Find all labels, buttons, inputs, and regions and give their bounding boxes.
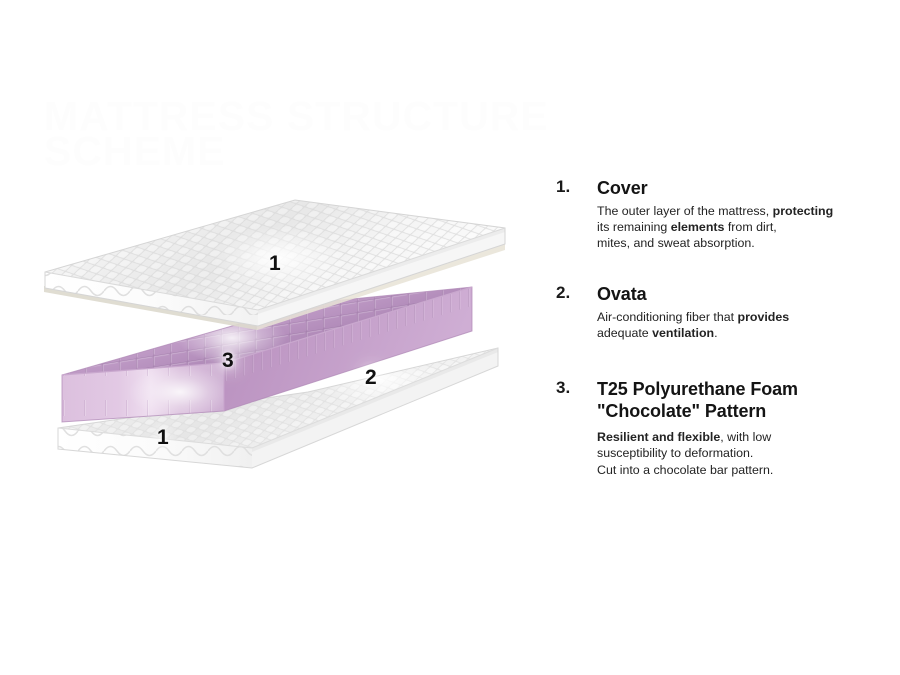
legend-panel: 1. Cover The outer layer of the mattress… <box>556 178 886 478</box>
legend-title-3: T25 Polyurethane Foam"Chocolate" Pattern <box>597 379 886 423</box>
diagram-canvas: MATTRESS STRUCTURE SCHEME <box>0 0 900 675</box>
legend-desc-3: Resilient and flexible, with lowsuscepti… <box>597 429 886 477</box>
legend-marker-3: 3. <box>556 379 590 396</box>
legend-title-3-line1: T25 Polyurethane Foam <box>597 379 798 399</box>
legend-marker-1: 1. <box>556 178 590 195</box>
legend-marker-2: 2. <box>556 284 590 301</box>
legend-title-2: Ovata <box>597 284 886 305</box>
legend-desc-2: Air-conditioning fiber that providesadeq… <box>597 309 886 341</box>
legend-title-3-line2: "Chocolate" Pattern <box>597 401 766 421</box>
legend-item-cover: 1. Cover The outer layer of the mattress… <box>556 178 886 251</box>
legend-item-ovata: 2. Ovata Air-conditioning fiber that pro… <box>556 284 886 341</box>
mattress-illustration <box>0 0 560 520</box>
legend-item-foam: 3. T25 Polyurethane Foam"Chocolate" Patt… <box>556 379 886 477</box>
legend-title-1: Cover <box>597 178 886 199</box>
legend-desc-1: The outer layer of the mattress, protect… <box>597 203 886 251</box>
